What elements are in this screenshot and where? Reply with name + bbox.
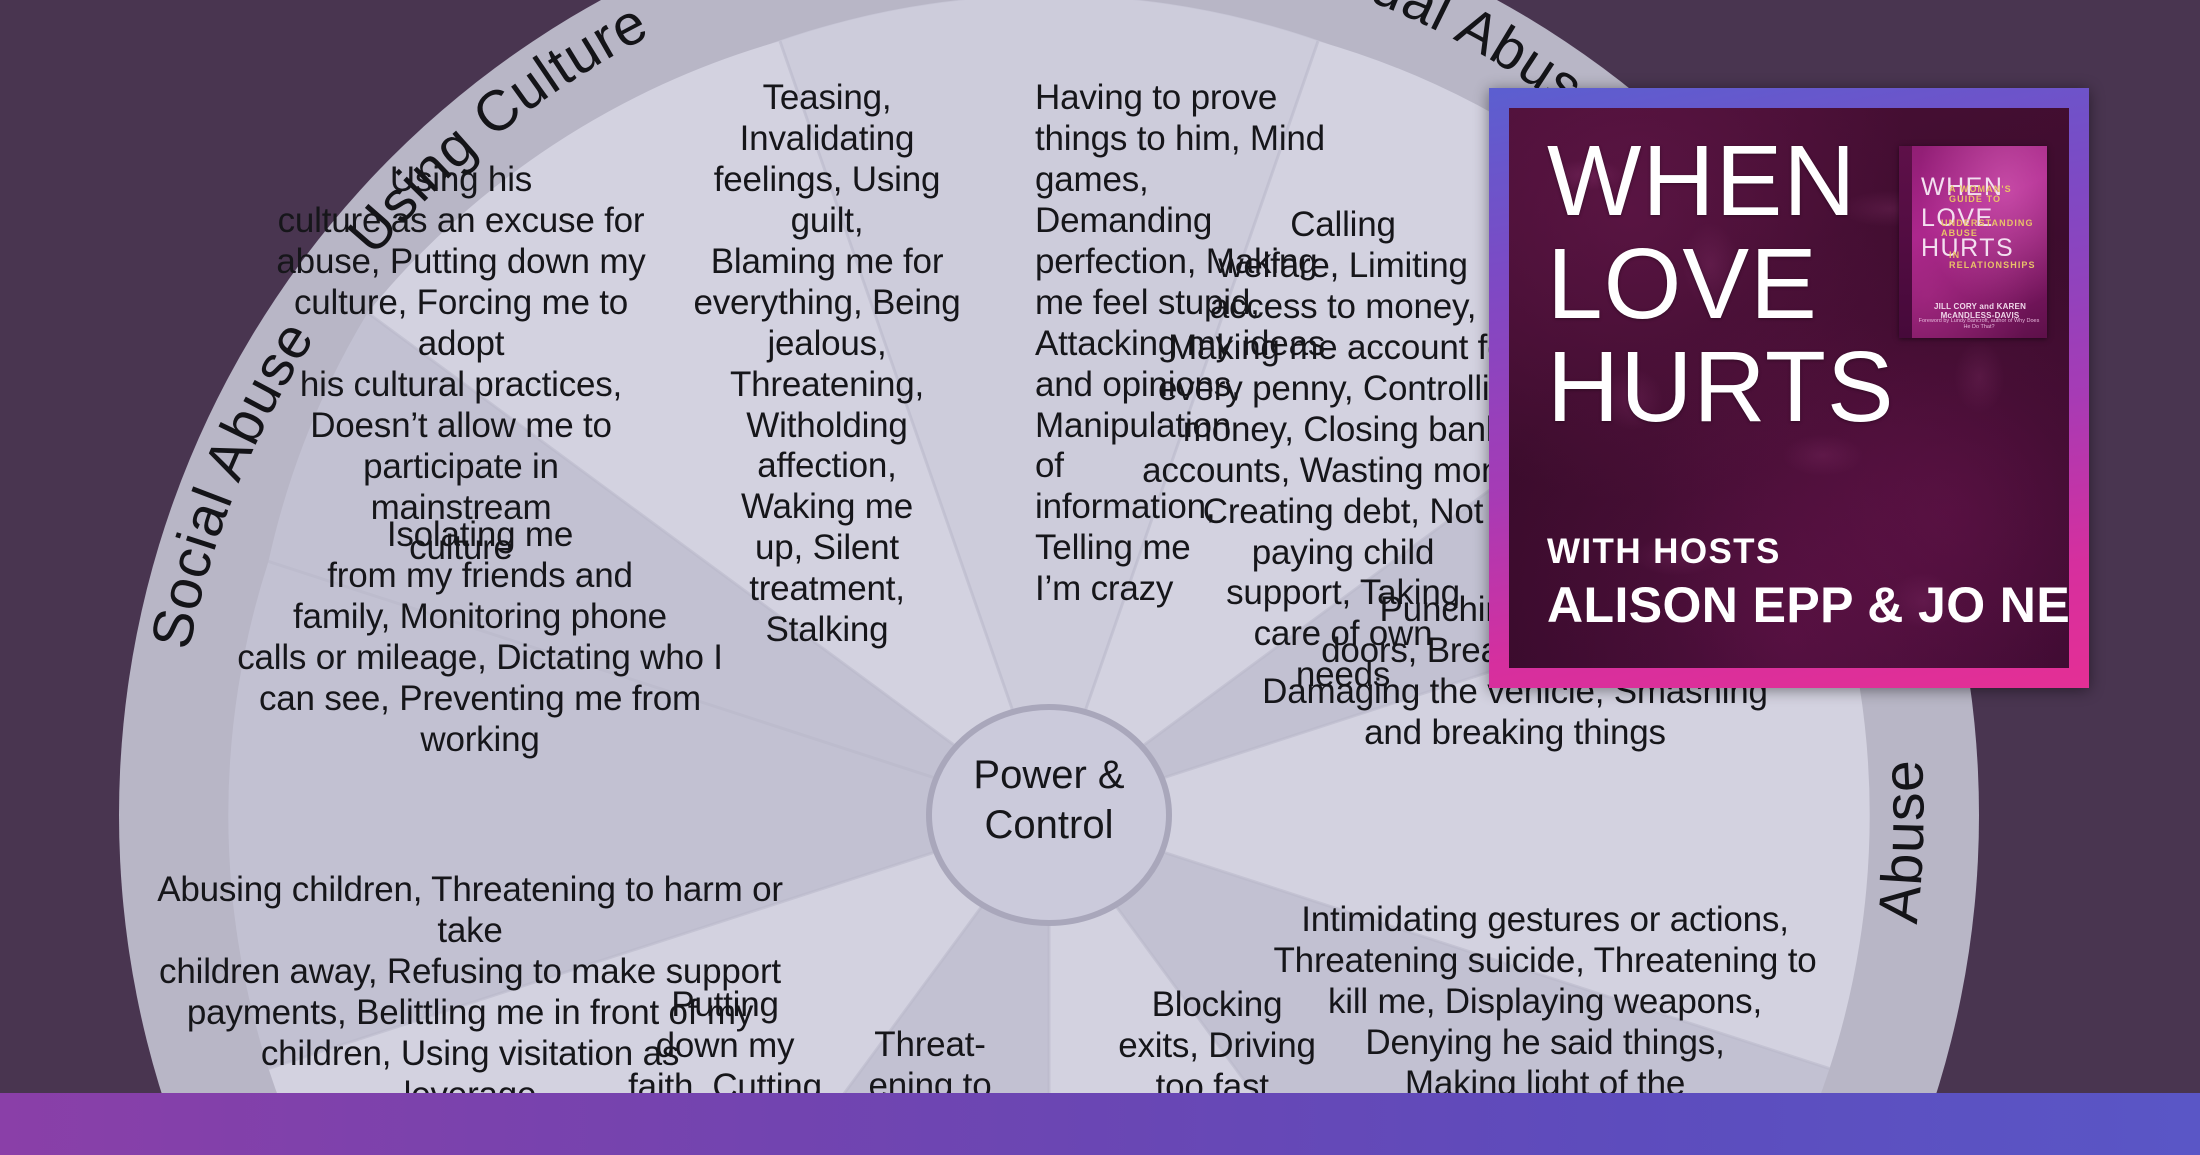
- rim-label-emotional-abuse: Emotional Abuse: [84, 0, 1050, 8]
- cover-title-line2: LOVE: [1547, 233, 1895, 336]
- book-subtitle-line1: A WOMAN'S GUIDE TO: [1949, 184, 2047, 204]
- cover-art-title: WHEN LOVE HURTS: [1547, 130, 1895, 439]
- cover-art-inner: WHEN LOVE HURTS WITH HOSTS ALISON EPP & …: [1509, 108, 2069, 668]
- book-subtitle-line3: IN RELATIONSHIPS: [1949, 250, 2047, 270]
- segment-text-social-abuse: Isolating me from my friends and family,…: [195, 515, 765, 761]
- book-subtitle-line2: UNDERSTANDING ABUSE: [1941, 218, 2047, 238]
- cover-art-hosts-block: WITH HOSTS ALISON EPP & JO NEILL: [1547, 532, 2069, 634]
- book-cover-thumbnail: WHEN LOVE HURTS A WOMAN'S GUIDE TO UNDER…: [1899, 146, 2047, 338]
- segment-text-using-children: Abusing children, Threatening to harm or…: [150, 870, 790, 1116]
- book-blurb: Foreword by Lundy Bancroft, author of Wh…: [1917, 318, 2041, 330]
- cover-title-line1: WHEN: [1547, 130, 1895, 233]
- with-hosts-label: WITH HOSTS: [1547, 532, 2069, 572]
- podcast-cover-art-overlay[interactable]: WHEN LOVE HURTS WITH HOSTS ALISON EPP & …: [1489, 88, 2089, 688]
- segment-text-using-culture: Using his culture as an excuse for abuse…: [246, 160, 676, 569]
- book-spine: [1899, 146, 1912, 338]
- hosts-names: ALISON EPP & JO NEILL: [1547, 576, 2069, 634]
- segment-text-physical-abuse: Blocking exits, Driving too fast,: [1112, 985, 1322, 1108]
- bottom-gradient-bar: [0, 1093, 2200, 1155]
- cover-title-line3: HURTS: [1547, 336, 1895, 439]
- screenshot-root: Power & Control Using Culture Emotional …: [0, 0, 2200, 1155]
